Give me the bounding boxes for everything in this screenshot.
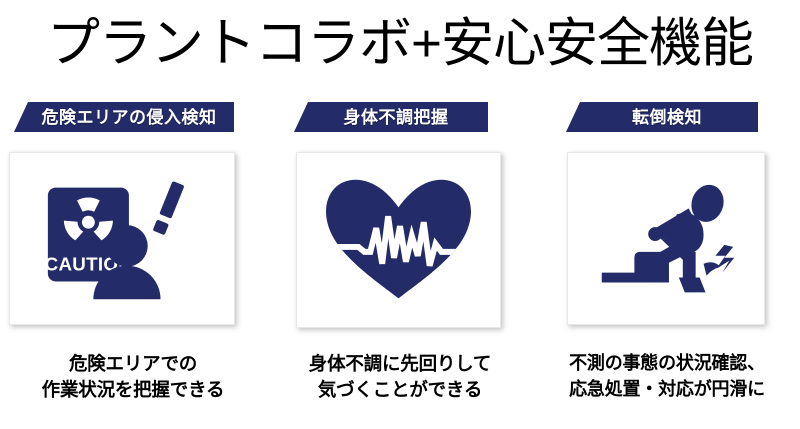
caption-health-condition: 身体不調に先回りして 気づくことができる [267,351,533,404]
banner-health-condition: 身体不調把握 [294,102,488,132]
banner-label: 転倒検知 [622,109,702,126]
caption-danger-area: 危険エリアでの 作業状況を把握できる [0,351,266,404]
caption-line-2: 応急処置・対応が円滑に [534,377,800,403]
banner-label: 身体不調把握 [334,109,449,126]
caption-line-2: 作業状況を把握できる [0,377,266,403]
caption-line-1: 不測の事態の状況確認、 [534,351,800,377]
icon-card-health-condition [296,152,501,328]
person-foot [679,278,706,293]
person-falling-off-step-icon [568,153,764,324]
banner-label: 危険エリアの侵入検知 [32,109,217,126]
impact-burst-secondary-icon [704,262,721,275]
caption-line-1: 身体不調に先回りして [267,351,533,377]
feature-column-fall-detection: 転倒検知 [534,94,800,429]
feature-column-health-condition: 身体不調把握 身体不調に先回りして 気づくことができる [267,94,533,429]
banner-fall-detection: 転倒検知 [566,102,758,132]
caption-line-1: 危険エリアでの [0,351,266,377]
page-title: プラントコラボ+安心安全機能 [0,0,800,86]
heart-with-pulse-waveform-icon [297,153,500,327]
icon-card-danger-area: CAUTION [9,152,235,325]
banner-danger-area: 危険エリアの侵入検知 [14,102,234,132]
icon-card-fall-detection [567,152,765,325]
impact-burst-icon [715,245,734,273]
radiation-caution-sign-with-person-icon: CAUTION [10,153,234,324]
feature-columns: 危険エリアの侵入検知 CAUTI [0,94,800,429]
feature-column-danger-area: 危険エリアの侵入検知 CAUTI [0,94,266,429]
caption-line-2: 気づくことができる [267,377,533,403]
caption-fall-detection: 不測の事態の状況確認、 応急処置・対応が円滑に [534,351,800,402]
